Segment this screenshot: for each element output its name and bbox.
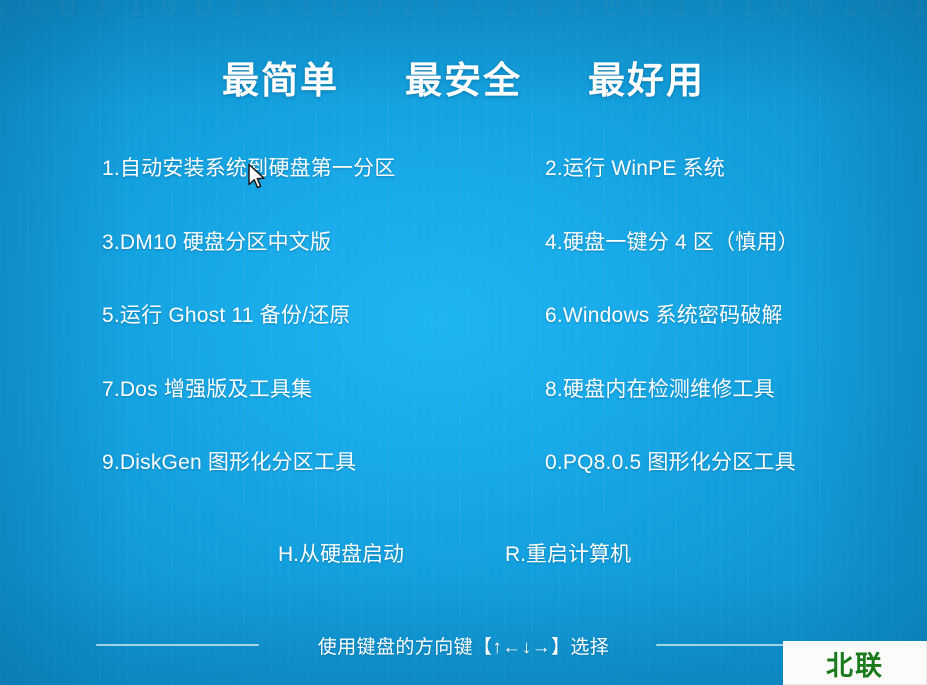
menu-item-9[interactable]: 9.DiskGen 图形化分区工具 bbox=[102, 446, 356, 476]
menu-item-0[interactable]: 0.PQ8.0.5 图形化分区工具 bbox=[545, 446, 796, 476]
menu-item-8[interactable]: 8.硬盘内在检测维修工具 bbox=[545, 373, 775, 403]
brand-badge-label: 北联 bbox=[826, 644, 884, 683]
menu-row: 7.Dos 增强版及工具集 8.硬盘内在检测维修工具 bbox=[0, 373, 927, 447]
menu-row: 1.自动安装系统到硬盘第一分区 2.运行 WinPE 系统 bbox=[0, 152, 927, 226]
headline: 最简单 最安全 最好用 bbox=[0, 50, 927, 104]
menu-item-4[interactable]: 4.硬盘一键分 4 区（慎用） bbox=[545, 226, 799, 256]
menu-item-3[interactable]: 3.DM10 硬盘分区中文版 bbox=[102, 226, 331, 256]
menu-list: 1.自动安装系统到硬盘第一分区 2.运行 WinPE 系统 3.DM10 硬盘分… bbox=[0, 152, 927, 520]
headline-part-1: 最简单 bbox=[222, 50, 339, 104]
menu-item-5[interactable]: 5.运行 Ghost 11 备份/还原 bbox=[102, 299, 350, 329]
menu-item-restart-computer[interactable]: R.重启计算机 bbox=[505, 538, 631, 568]
menu-row: 9.DiskGen 图形化分区工具 0.PQ8.0.5 图形化分区工具 bbox=[0, 446, 927, 520]
headline-part-3: 最好用 bbox=[588, 50, 705, 104]
menu-row: 3.DM10 硬盘分区中文版 4.硬盘一键分 4 区（慎用） bbox=[0, 226, 927, 300]
menu-item-1[interactable]: 1.自动安装系统到硬盘第一分区 bbox=[102, 152, 396, 182]
headline-part-2: 最安全 bbox=[405, 50, 522, 104]
menu-item-boot-from-disk[interactable]: H.从硬盘启动 bbox=[278, 538, 404, 568]
menu-item-6[interactable]: 6.Windows 系统密码破解 bbox=[545, 299, 783, 329]
menu-item-7[interactable]: 7.Dos 增强版及工具集 bbox=[102, 373, 312, 403]
menu-item-2[interactable]: 2.运行 WinPE 系统 bbox=[545, 152, 725, 182]
brand-badge: 北联 bbox=[783, 641, 927, 685]
menu-row: 5.运行 Ghost 11 备份/还原 6.Windows 系统密码破解 bbox=[0, 299, 927, 373]
boot-menu-screen: 0101100101001011010010100101101001011010… bbox=[0, 0, 927, 685]
